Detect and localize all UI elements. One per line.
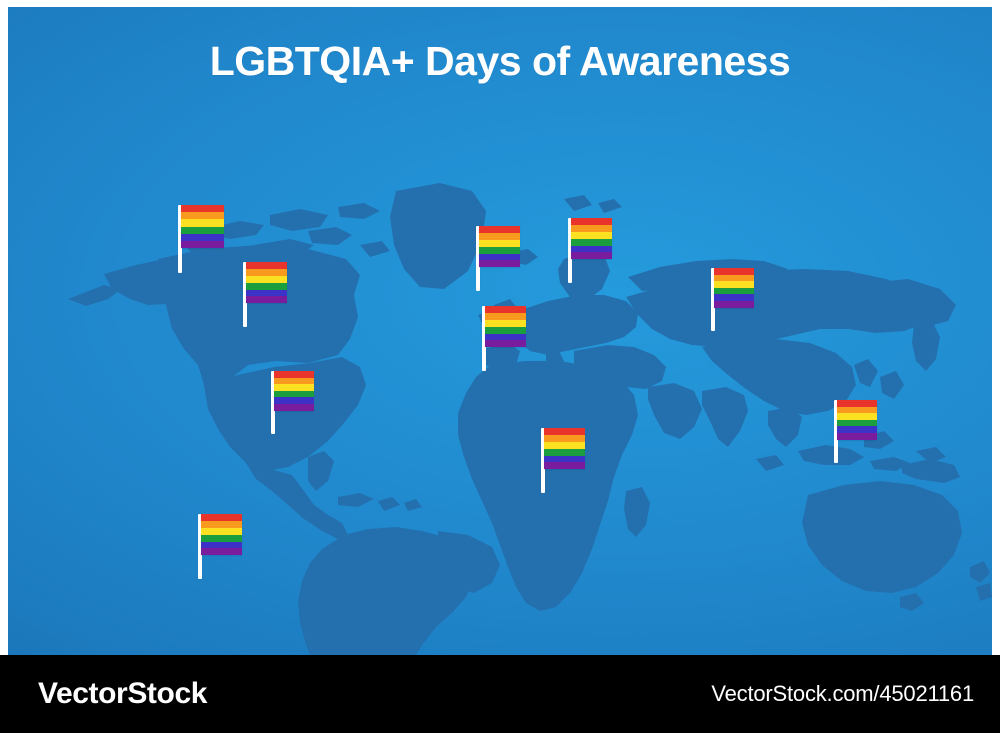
flag-stripe-yellow <box>274 384 314 391</box>
flag-stripe-red <box>571 218 612 225</box>
flag-stripe-yellow <box>485 320 526 327</box>
flag-stripe-yellow <box>571 232 612 239</box>
flag-stripe-purple <box>837 433 877 440</box>
flag-stripe-purple <box>479 260 520 267</box>
flag-stripe-yellow <box>544 442 585 449</box>
flag-stripe-orange <box>181 212 224 219</box>
flag-stripe-green <box>544 449 585 456</box>
rainbow-flag-icon <box>181 205 224 248</box>
flag-stripe-green <box>181 227 224 234</box>
flag-stripe-yellow <box>201 528 242 535</box>
poster-artwork: LGBTQIA+ Days of Awareness <box>8 7 992 655</box>
rainbow-flag-icon <box>479 226 520 267</box>
rainbow-flag-icon <box>544 428 585 469</box>
flag-stripe-orange <box>485 313 526 320</box>
watermark-bar: VectorStock VectorStock.com/45021161 <box>0 655 1000 733</box>
flag-stripe-orange <box>571 225 612 232</box>
flag-stripe-blue <box>544 456 585 463</box>
flag-stripe-red <box>485 306 526 313</box>
flag-stripe-yellow <box>246 276 287 283</box>
rainbow-flag-icon <box>485 306 526 347</box>
flag-stripe-orange <box>201 521 242 528</box>
world-map <box>8 99 992 655</box>
flag-stripe-blue <box>246 290 287 297</box>
flag-stripe-red <box>479 226 520 233</box>
flag-stripe-orange <box>274 378 314 385</box>
flag-stripe-yellow <box>181 219 224 226</box>
flag-stripe-blue <box>274 397 314 404</box>
flag-stripe-red <box>246 262 287 269</box>
rainbow-flag-icon <box>571 218 612 259</box>
flag-stripe-blue <box>181 234 224 241</box>
flag-stripe-blue <box>201 542 242 549</box>
flag-stripe-purple <box>181 241 224 248</box>
flag-stripe-green <box>714 288 754 295</box>
flag-stripe-purple <box>544 462 585 469</box>
rainbow-flag-icon <box>274 371 314 411</box>
flag-stripe-green <box>485 327 526 334</box>
flag-stripe-purple <box>246 296 287 303</box>
rainbow-flag-icon <box>837 400 877 440</box>
flag-stripe-blue <box>571 246 612 253</box>
poster-background: LGBTQIA+ Days of Awareness <box>8 7 992 655</box>
flag-stripe-orange <box>246 269 287 276</box>
flag-stripe-green <box>479 247 520 254</box>
flag-stripe-yellow <box>714 281 754 288</box>
flag-stripe-red <box>544 428 585 435</box>
poster-stage: LGBTQIA+ Days of Awareness <box>0 0 1000 733</box>
world-map-svg <box>8 99 992 655</box>
watermark-url: VectorStock.com/45021161 <box>711 681 974 707</box>
flag-stripe-blue <box>479 254 520 261</box>
flag-stripe-yellow <box>479 240 520 247</box>
flag-stripe-blue <box>714 294 754 301</box>
watermark-brand: VectorStock <box>38 677 207 711</box>
page-title: LGBTQIA+ Days of Awareness <box>8 41 992 82</box>
flag-stripe-orange <box>479 233 520 240</box>
flag-stripe-purple <box>201 548 242 555</box>
flag-stripe-red <box>181 205 224 212</box>
flag-stripe-purple <box>485 340 526 347</box>
flag-stripe-purple <box>571 252 612 259</box>
rainbow-flag-icon <box>714 268 754 308</box>
flag-stripe-green <box>246 283 287 290</box>
flag-stripe-green <box>837 420 877 427</box>
rainbow-flag-icon <box>246 262 287 303</box>
rainbow-flag-icon <box>201 514 242 555</box>
flag-stripe-orange <box>837 407 877 414</box>
flag-stripe-green <box>571 239 612 246</box>
flag-stripe-green <box>201 535 242 542</box>
flag-stripe-blue <box>485 334 526 341</box>
flag-stripe-red <box>837 400 877 407</box>
flag-stripe-green <box>274 391 314 398</box>
flag-stripe-purple <box>714 301 754 308</box>
flag-stripe-red <box>201 514 242 521</box>
flag-stripe-orange <box>714 275 754 282</box>
flag-stripe-red <box>274 371 314 378</box>
flag-stripe-red <box>714 268 754 275</box>
flag-stripe-purple <box>274 404 314 411</box>
flag-stripe-blue <box>837 426 877 433</box>
flag-stripe-orange <box>544 435 585 442</box>
flag-stripe-yellow <box>837 413 877 420</box>
